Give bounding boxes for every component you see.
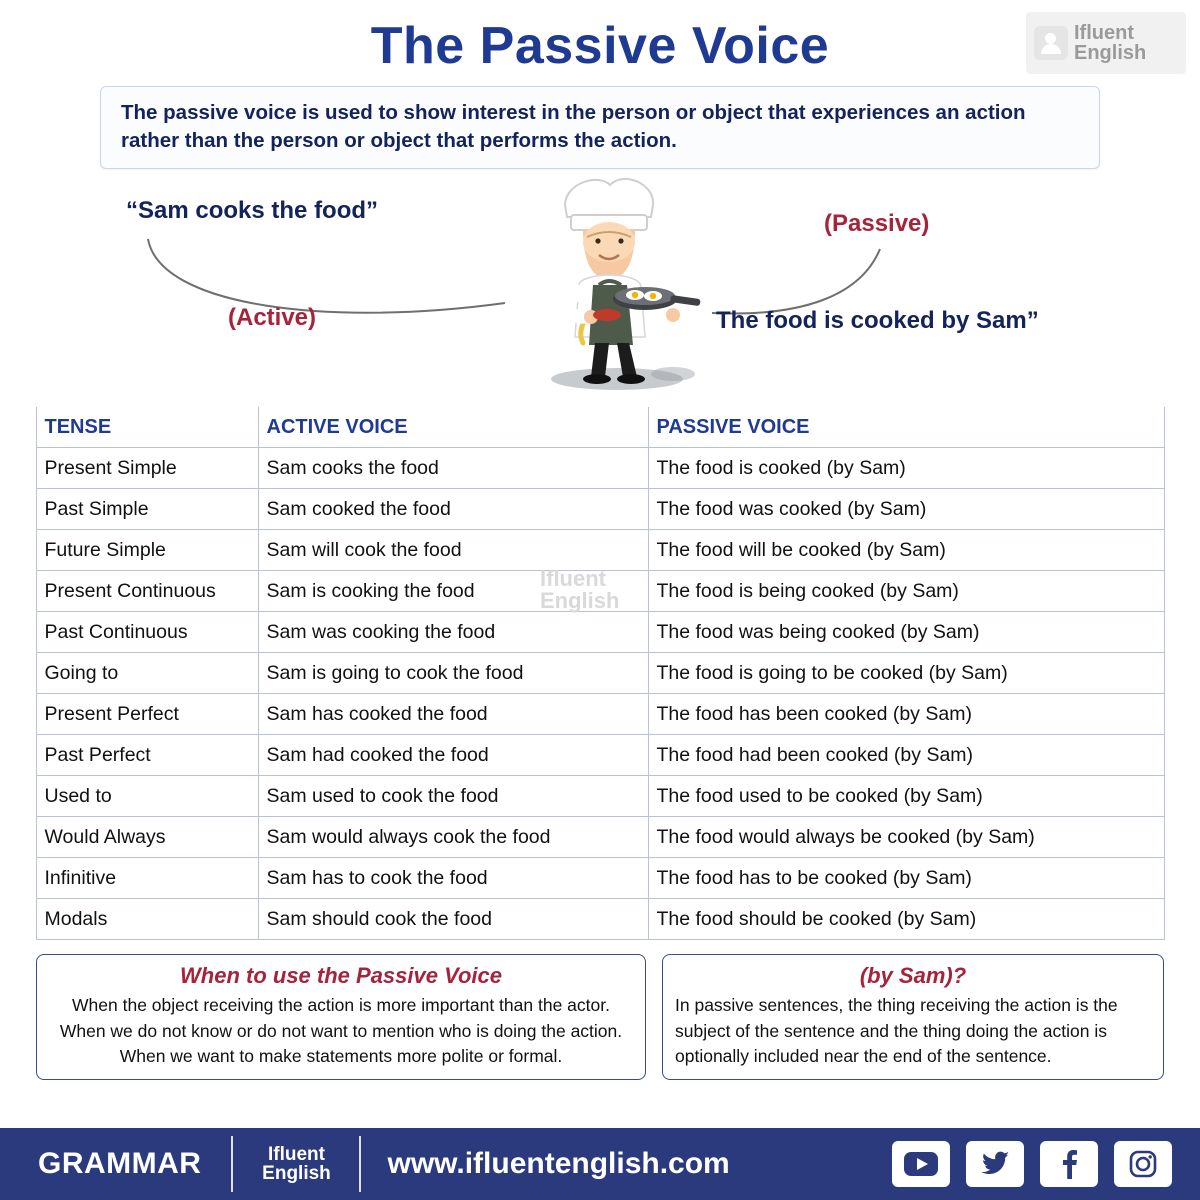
column-header-tense: TENSE — [36, 407, 258, 448]
cell-passive: The food was cooked (by Sam) — [648, 489, 1164, 530]
note-box-by-sam: (by Sam)? In passive sentences, the thin… — [662, 954, 1164, 1080]
definition-box: The passive voice is used to show intere… — [100, 86, 1100, 169]
cell-tense: Present Continuous — [36, 571, 258, 612]
table-row: Present Perfect Sam has cooked the food … — [36, 694, 1164, 735]
social-links — [892, 1141, 1200, 1187]
table-row: Would Always Sam would always cook the f… — [36, 817, 1164, 858]
cell-passive: The food had been cooked (by Sam) — [648, 735, 1164, 776]
cell-active: Sam has to cook the food — [258, 858, 648, 899]
note-line: When we want to make statements more pol… — [49, 1044, 633, 1069]
cell-active: Sam will cook the food — [258, 530, 648, 571]
cell-tense: Present Perfect — [36, 694, 258, 735]
table-row: Present Continuous Sam is cooking the fo… — [36, 571, 1164, 612]
column-header-active-voice: ACTIVE VOICE — [258, 407, 648, 448]
table-header-row: TENSE ACTIVE VOICE PASSIVE VOICE — [36, 407, 1164, 448]
brand-logo: Ifluent English — [1026, 12, 1186, 74]
passive-quote-label: The food is cooked by Sam” — [716, 307, 1039, 335]
notes-row: When to use the Passive Voice When the o… — [36, 954, 1164, 1080]
cell-active: Sam had cooked the food — [258, 735, 648, 776]
footer-brand-logo: Ifluent English — [233, 1135, 359, 1193]
cell-passive: The food was being cooked (by Sam) — [648, 612, 1164, 653]
note-title-when-to-use: When to use the Passive Voice — [49, 963, 633, 989]
footer-bar: GRAMMAR Ifluent English www.ifluentengli… — [0, 1128, 1200, 1200]
cell-tense: Would Always — [36, 817, 258, 858]
note-line: optionally included near the end of the … — [675, 1044, 1151, 1069]
active-quote-label: “Sam cooks the food” — [126, 197, 378, 225]
cell-active: Sam is cooking the food — [258, 571, 648, 612]
cell-passive: The food has been cooked (by Sam) — [648, 694, 1164, 735]
facebook-icon[interactable] — [1040, 1141, 1098, 1187]
table-row: Infinitive Sam has to cook the food The … — [36, 858, 1164, 899]
cell-passive: The food will be cooked (by Sam) — [648, 530, 1164, 571]
twitter-icon[interactable] — [966, 1141, 1024, 1187]
footer-divider-right — [359, 1136, 361, 1192]
cell-passive: The food is being cooked (by Sam) — [648, 571, 1164, 612]
cell-passive: The food would always be cooked (by Sam) — [648, 817, 1164, 858]
note-line: When the object receiving the action is … — [49, 993, 633, 1018]
tense-table: TENSE ACTIVE VOICE PASSIVE VOICE Present… — [36, 407, 1165, 940]
table-row: Past Simple Sam cooked the food The food… — [36, 489, 1164, 530]
note-line: subject of the sentence and the thing do… — [675, 1019, 1151, 1044]
cell-tense: Past Perfect — [36, 735, 258, 776]
cell-active: Sam would always cook the food — [258, 817, 648, 858]
cell-passive: The food used to be cooked (by Sam) — [648, 776, 1164, 817]
table-row: Past Perfect Sam had cooked the food The… — [36, 735, 1164, 776]
cell-tense: Infinitive — [36, 858, 258, 899]
brand-logo-text: Ifluent English — [1074, 23, 1146, 63]
cell-passive: The food should be cooked (by Sam) — [648, 899, 1164, 940]
column-header-passive-voice: PASSIVE VOICE — [648, 407, 1164, 448]
definition-text: The passive voice is used to show intere… — [121, 99, 1081, 154]
cell-passive: The food has to be cooked (by Sam) — [648, 858, 1164, 899]
footer-logo-line1: Ifluent — [262, 1145, 331, 1164]
cell-active: Sam used to cook the food — [258, 776, 648, 817]
cell-active: Sam was cooking the food — [258, 612, 648, 653]
cell-tense: Past Simple — [36, 489, 258, 530]
user-badge-icon — [1034, 26, 1068, 60]
cell-active: Sam has cooked the food — [258, 694, 648, 735]
youtube-icon[interactable] — [892, 1141, 950, 1187]
cell-tense: Going to — [36, 653, 258, 694]
footer-logo-line2: English — [262, 1164, 331, 1183]
cell-tense: Modals — [36, 899, 258, 940]
instagram-icon[interactable] — [1114, 1141, 1172, 1187]
table-row: Going to Sam is going to cook the food T… — [36, 653, 1164, 694]
passive-voice-label: (Passive) — [824, 210, 929, 238]
note-line: When we do not know or do not want to me… — [49, 1019, 633, 1044]
note-line: In passive sentences, the thing receivin… — [675, 993, 1151, 1018]
table-row: Modals Sam should cook the food The food… — [36, 899, 1164, 940]
cell-tense: Present Simple — [36, 448, 258, 489]
cell-tense: Used to — [36, 776, 258, 817]
active-voice-label: (Active) — [228, 304, 316, 332]
table-row: Past Continuous Sam was cooking the food… — [36, 612, 1164, 653]
note-box-when-to-use: When to use the Passive Voice When the o… — [36, 954, 646, 1080]
cell-passive: The food is cooked (by Sam) — [648, 448, 1164, 489]
cell-tense: Future Simple — [36, 530, 258, 571]
table-row: Future Simple Sam will cook the food The… — [36, 530, 1164, 571]
cell-passive: The food is going to be cooked (by Sam) — [648, 653, 1164, 694]
table-row: Present Simple Sam cooks the food The fo… — [36, 448, 1164, 489]
note-title-by-sam: (by Sam)? — [675, 963, 1151, 989]
footer-divider-left — [231, 1136, 233, 1192]
illustration-area: “Sam cooks the food” (Active) (Passive) … — [0, 177, 1200, 405]
cell-tense: Past Continuous — [36, 612, 258, 653]
footer-grammar-label: GRAMMAR — [0, 1147, 231, 1181]
footer-website-url[interactable]: www.ifluentenglish.com — [361, 1147, 729, 1181]
cell-active: Sam is going to cook the food — [258, 653, 648, 694]
table-row: Used to Sam used to cook the food The fo… — [36, 776, 1164, 817]
chef-cooking-illustration — [495, 167, 725, 397]
brand-logo-line2: English — [1074, 43, 1146, 63]
cell-active: Sam should cook the food — [258, 899, 648, 940]
cell-active: Sam cooked the food — [258, 489, 648, 530]
cell-active: Sam cooks the food — [258, 448, 648, 489]
page-title: The Passive Voice — [0, 0, 1200, 82]
brand-logo-line1: Ifluent — [1074, 23, 1146, 43]
